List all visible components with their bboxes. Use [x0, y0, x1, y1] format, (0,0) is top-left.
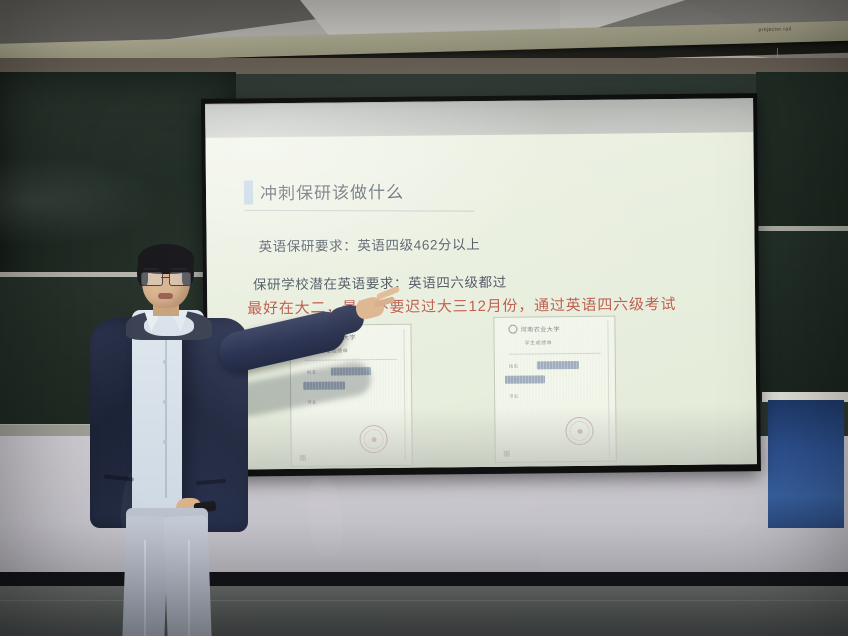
beam-label: projector rail — [758, 26, 791, 33]
pant-crease-left — [144, 540, 146, 636]
university-name: 河南农业大学 — [520, 324, 560, 333]
slide-title-underline — [244, 210, 474, 212]
title-accent-bar — [244, 180, 253, 204]
pant-crease-right — [188, 540, 190, 636]
redaction-box-1 — [537, 361, 579, 369]
document-corner-mark — [504, 451, 510, 457]
document-subtitle: 学生成绩单 — [525, 339, 553, 346]
shirt-button — [163, 360, 167, 364]
slide-title: 冲刺保研该做什么 — [260, 178, 404, 205]
shirt-button — [163, 400, 167, 404]
blue-curtain — [768, 400, 844, 528]
seal-inner-ring — [569, 421, 589, 441]
document-seal-stamp — [565, 417, 593, 445]
presenter — [70, 240, 370, 636]
glasses-lens-right — [169, 272, 191, 286]
university-logo-icon — [508, 325, 517, 334]
slide-title-row: 冲刺保研该做什么 — [244, 178, 404, 205]
shirt-placket — [165, 328, 167, 498]
glasses-lens-left — [141, 272, 163, 286]
glasses-bridge — [161, 277, 169, 278]
eyebrow-right — [171, 268, 187, 270]
eyebrow-left — [143, 268, 159, 270]
certificate-document-right: 河南农业大学 学生成绩单 姓名 学号 专业 — [493, 316, 617, 463]
jacket-fold — [304, 476, 346, 559]
shirt-button — [163, 440, 167, 444]
classroom-photo: projector rail 冲刺保研该做什么 英语保研要求：英语四级462分以… — [0, 0, 848, 636]
document-field-label-3: 专业 — [509, 394, 519, 400]
glasses-icon — [141, 272, 191, 284]
redaction-box-2 — [505, 375, 545, 383]
mouth — [158, 293, 173, 299]
blackboard-glare — [0, 156, 165, 246]
document-header-right: 河南农业大学 — [508, 324, 560, 334]
blackboard-right-lower — [756, 231, 848, 401]
document-field-label-1: 姓名 — [509, 364, 519, 370]
document-inner-frame — [500, 321, 609, 458]
